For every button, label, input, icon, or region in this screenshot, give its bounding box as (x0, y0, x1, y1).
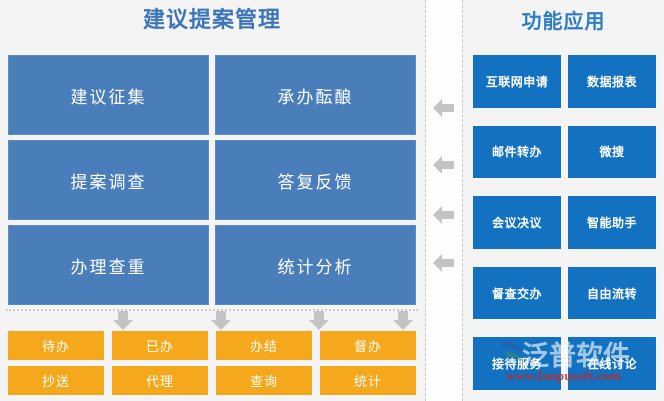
feature-box-label: 督查交办 (492, 285, 542, 302)
feature-box-label: 会议决议 (492, 214, 542, 231)
process-box[interactable]: 办理查重 (8, 225, 209, 305)
feature-box-label: 智能助手 (587, 214, 637, 231)
action-button-label: 已办 (146, 336, 174, 355)
panel-divider-gap (426, 0, 462, 401)
feature-box-label: 微搜 (599, 143, 624, 160)
feature-box[interactable]: 会议决议 (473, 196, 561, 249)
feature-box[interactable]: 智能助手 (568, 196, 656, 249)
down-arrow-icon (308, 309, 330, 331)
function-application-panel: 功能应用 互联网申请 数据报表 邮件转办 微搜 会议决议 智能助手 督查交办 (463, 0, 664, 401)
process-box[interactable]: 建议征集 (8, 55, 209, 135)
action-button-label: 统计 (354, 371, 382, 390)
left-arrow-icon (433, 205, 455, 225)
feature-box-label: 邮件转办 (492, 143, 542, 160)
process-box-label: 建议征集 (71, 83, 147, 108)
feature-box[interactable]: 邮件转办 (473, 126, 561, 179)
action-button-label: 办结 (250, 336, 278, 355)
suggestion-management-panel: 建议提案管理 建议征集 承办酝酿 提案调查 答复反馈 办理查重 统计分析 (0, 0, 424, 401)
feature-box[interactable]: 互联网申请 (473, 55, 561, 108)
diagram-canvas: 建议提案管理 建议征集 承办酝酿 提案调查 答复反馈 办理查重 统计分析 (0, 0, 664, 401)
down-arrow-icon (210, 309, 232, 331)
down-arrow-icon (112, 309, 134, 331)
dashed-divider-left (425, 0, 426, 401)
process-box[interactable]: 答复反馈 (215, 140, 416, 220)
process-box-label: 办理查重 (71, 253, 147, 278)
feature-box[interactable]: 数据报表 (568, 55, 656, 108)
action-button[interactable]: 待办 (8, 331, 104, 360)
action-button-label: 待办 (42, 336, 70, 355)
feature-box-label: 互联网申请 (486, 73, 549, 90)
process-box[interactable]: 统计分析 (215, 225, 416, 305)
action-button[interactable]: 已办 (112, 331, 208, 360)
action-button[interactable]: 查询 (216, 366, 312, 395)
action-button-label: 查询 (250, 371, 278, 390)
left-panel-title: 建议提案管理 (0, 4, 424, 38)
left-arrow-icon (433, 253, 455, 273)
action-button[interactable]: 统计 (320, 366, 416, 395)
feature-box[interactable]: 督查交办 (473, 267, 561, 320)
action-button-label: 督办 (354, 336, 382, 355)
feature-box-label: 接待服务 (492, 355, 542, 372)
action-button[interactable]: 督办 (320, 331, 416, 360)
left-arrow-icon (433, 155, 455, 175)
feature-box-label: 数据报表 (587, 73, 637, 90)
feature-box-label: 自由流转 (587, 285, 637, 302)
action-button-label: 抄送 (42, 371, 70, 390)
feature-box[interactable]: 自由流转 (568, 267, 656, 320)
feature-box-label: 在线讨论 (587, 355, 637, 372)
action-button-grid: 待办 已办 办结 督办 抄送 代理 查询 统计 (8, 331, 416, 395)
left-arrow-icon (433, 98, 455, 118)
process-box-label: 提案调查 (71, 168, 147, 193)
feature-box-grid: 互联网申请 数据报表 邮件转办 微搜 会议决议 智能助手 督查交办 自由流转 (473, 55, 656, 390)
process-box-grid: 建议征集 承办酝酿 提案调查 答复反馈 办理查重 统计分析 (8, 55, 416, 305)
right-panel-title: 功能应用 (463, 4, 664, 38)
action-button[interactable]: 代理 (112, 366, 208, 395)
action-button-label: 代理 (146, 371, 174, 390)
process-box-label: 答复反馈 (278, 168, 354, 193)
feature-box[interactable]: 在线讨论 (568, 337, 656, 390)
action-button[interactable]: 抄送 (8, 366, 104, 395)
feature-box[interactable]: 接待服务 (473, 337, 561, 390)
feature-box[interactable]: 微搜 (568, 126, 656, 179)
process-box-label: 承办酝酿 (278, 83, 354, 108)
process-box[interactable]: 承办酝酿 (215, 55, 416, 135)
process-box[interactable]: 提案调查 (8, 140, 209, 220)
process-box-label: 统计分析 (278, 253, 354, 278)
action-button[interactable]: 办结 (216, 331, 312, 360)
down-arrow-icon (392, 309, 414, 331)
